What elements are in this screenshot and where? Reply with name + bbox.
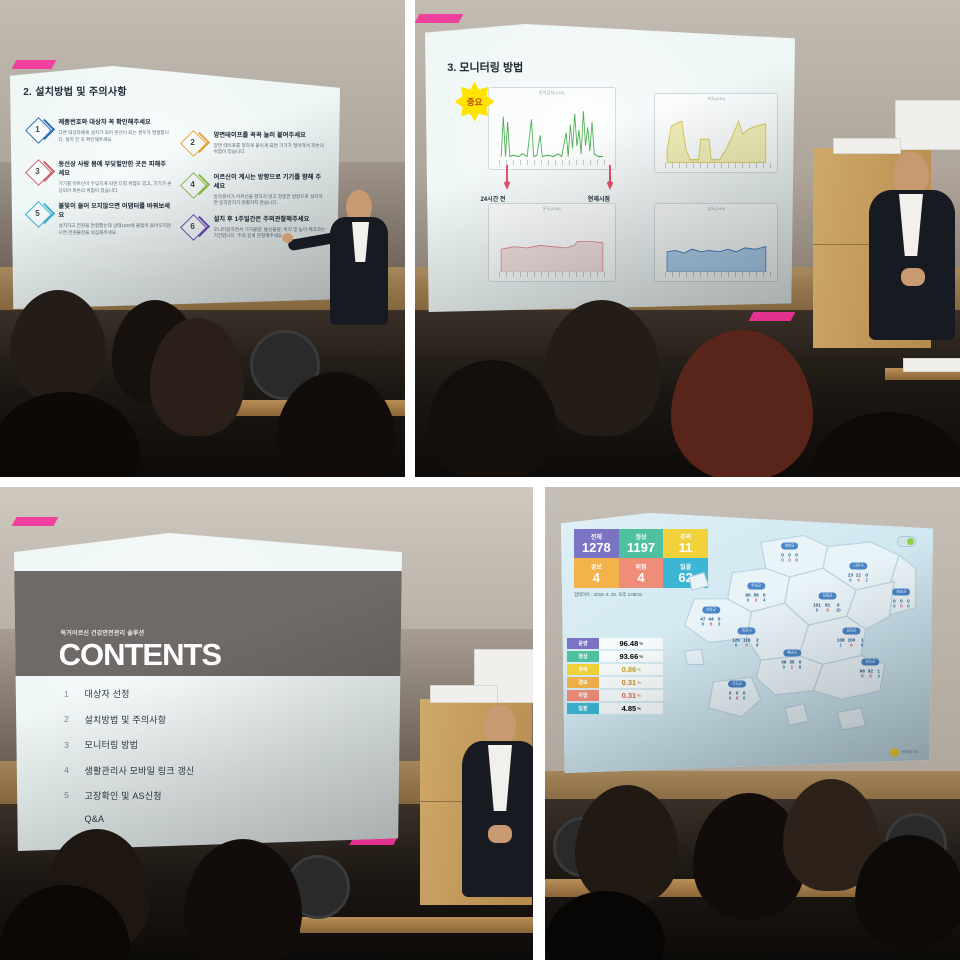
chart-axis xyxy=(665,163,772,168)
item-number: 6 xyxy=(182,216,204,238)
desk xyxy=(300,917,533,933)
contents-row-number: 5 xyxy=(61,790,73,800)
humidity-area xyxy=(665,221,770,272)
item-number: 5 xyxy=(27,203,49,225)
region-name: 강진군 xyxy=(842,628,860,635)
presenter xyxy=(855,150,960,350)
chart-caption: 습도(24h) xyxy=(655,206,777,212)
install-items-left-column: 1 제품번호와 대상자 꼭 확인해주세요 다른 대상자에게 설치가 되어 혼선이… xyxy=(27,119,172,245)
region-values: 101 91 0 0 0 10 xyxy=(813,603,842,613)
cardboard-box xyxy=(430,685,498,703)
slide-title: 2. 설치방법 및 주의사항 xyxy=(23,83,127,98)
rate-number: 4.85 xyxy=(622,704,637,713)
item-body: 기기를 어르신이 부딪히게 되면 다칠 위험도 있고, 기기가 손상되어 파손의… xyxy=(59,181,172,195)
arrow-right-label: 현재시점 xyxy=(588,194,610,203)
illuminance-chart: 조도(24h) xyxy=(654,93,778,173)
kpi-label: 정상 xyxy=(635,532,646,541)
activity-chart: 동작감지(24h) xyxy=(488,87,616,170)
install-item: 2 양면테이프를 꼭꼭 눌러 붙여주세요 양면 테이프를 약하게 붙이게 되면 … xyxy=(182,132,327,166)
contents-row: 5 고장확인 및 AS신청 xyxy=(61,789,162,802)
brand-text: 한국에너지 xyxy=(902,750,919,755)
region-values: 126 116 2 0 0 8 xyxy=(732,638,761,648)
contents-row: 2 설치방법 및 주의사항 xyxy=(61,713,167,726)
region-marker[interactable]: 완도군 96 92 1 0 0 3 xyxy=(860,649,881,678)
pink-tape-mark xyxy=(12,517,59,526)
rate-label: 운영 xyxy=(567,638,600,649)
contents-row-number: 1 xyxy=(61,689,73,699)
presenter xyxy=(452,705,533,905)
brand-logo: 한국에너지 xyxy=(890,748,919,757)
chart-caption: 온도(24h) xyxy=(489,206,615,212)
temperature-chart: 온도(24h) xyxy=(488,203,616,283)
arrow-right-icon xyxy=(606,165,614,191)
region-marker[interactable]: 목포시 126 116 2 0 0 8 xyxy=(732,619,761,648)
rate-unit: % xyxy=(637,693,641,698)
region-name: 목포시 xyxy=(738,628,756,635)
region-name: 완도군 xyxy=(862,658,880,665)
activity-spike-line xyxy=(499,106,607,159)
rate-number: 0.31 xyxy=(622,691,637,700)
kpi-value: 4 xyxy=(593,571,600,585)
kpi-tile[interactable]: 전체 1278 xyxy=(574,529,619,559)
contents-row-label: 모니터링 방법 xyxy=(85,738,139,751)
contents-title: CONTENTS xyxy=(59,640,222,669)
slide-title: 3. 모니터링 방법 xyxy=(447,59,523,75)
item-heading: 제품번호와 대상자 꼭 확인해주세요 xyxy=(59,119,172,128)
arrow-left-label: 24시간 전 xyxy=(481,194,506,203)
temperature-area xyxy=(499,221,607,272)
chart-axis xyxy=(499,160,610,165)
region-values: 47 44 0 0 0 3 xyxy=(700,616,721,626)
paper-stack xyxy=(903,358,960,372)
item-heading: 불빛이 들어 오지않으면 어댑터를 바꿔보세요 xyxy=(59,203,172,221)
chart-axis xyxy=(499,272,610,277)
cardboard-box xyxy=(895,100,960,150)
rate-row: 경보 0.31% xyxy=(567,677,664,688)
region-values: 60 56 0 0 0 4 xyxy=(746,592,767,602)
kpi-tile[interactable]: 경보 4 xyxy=(574,558,619,588)
region-marker[interactable]: 무안군 60 56 0 0 0 4 xyxy=(746,573,767,602)
region-name: 무안군 xyxy=(747,582,765,589)
presenter-hands xyxy=(901,268,925,286)
region-name: 신안군 xyxy=(702,606,720,613)
presenter-hand xyxy=(282,233,293,243)
kpi-value: 1278 xyxy=(582,541,611,555)
region-values: 96 92 1 0 0 3 xyxy=(860,668,881,678)
panel-monitoring-method: 3. 모니터링 방법 중요 동작감지(24h) 24시간 전 현재시점 조도(2… xyxy=(415,0,960,477)
region-name: 화순군 xyxy=(892,589,910,596)
brand-mark-icon xyxy=(890,748,899,757)
rate-unit: % xyxy=(637,680,641,685)
rate-row: 정상 93.66% xyxy=(567,651,664,662)
pink-tape-mark xyxy=(12,60,57,69)
item-number: 1 xyxy=(27,119,49,141)
chart-axis xyxy=(665,272,772,277)
chevron-5-icon: 5 xyxy=(27,203,53,229)
arrow-left-icon xyxy=(503,165,511,191)
rate-number: 0.31 xyxy=(622,678,637,687)
chevron-6-icon: 6 xyxy=(182,216,208,242)
region-marker[interactable]: 나주시 23 21 0 0 0 2 xyxy=(848,553,869,582)
region-marker[interactable]: 신안군 47 44 0 0 0 3 xyxy=(700,597,721,626)
item-heading: 양면테이프를 꼭꼭 눌러 붙여주세요 xyxy=(214,132,327,141)
kpi-tile[interactable]: 정상 1197 xyxy=(619,529,664,559)
chart-caption: 조도(24h) xyxy=(655,96,777,102)
item-body: 양면 테이프를 약하게 붙이게 되면 기기가 떨어져서 파손의 위험이 있습니다… xyxy=(214,143,327,157)
rate-table: 운영 96.48% 정상 93.66% 주의 0.86% xyxy=(567,638,664,716)
presenter-face xyxy=(484,705,516,745)
rate-value: 4.85% xyxy=(599,703,663,714)
rate-value: 0.31% xyxy=(599,677,663,688)
contents-row: 4 생활관리사 모바일 링크 갱신 xyxy=(61,764,195,777)
projection-screen: 2. 설치방법 및 주의사항 1 제품번호와 대상자 꼭 확인해주세요 다른 대… xyxy=(10,66,340,309)
pink-tape-mark xyxy=(749,312,796,321)
install-item: 5 불빛이 들어 오지않으면 어댑터를 바꿔보세요 설치하고 전원을 연결했는데… xyxy=(27,203,172,237)
contents-row: 1 대상자 선정 xyxy=(61,687,130,700)
contents-row-label: 설치방법 및 주의사항 xyxy=(85,713,167,726)
item-number: 2 xyxy=(182,132,204,154)
rate-row: 주의 0.86% xyxy=(567,664,664,675)
rate-label: 주의 xyxy=(567,664,600,675)
rate-unit: % xyxy=(637,706,641,711)
chevron-3-icon: 3 xyxy=(27,161,53,187)
rate-number: 0.86 xyxy=(622,665,637,674)
item-number: 4 xyxy=(182,174,204,196)
projection-screen: 3. 모니터링 방법 중요 동작감지(24h) 24시간 전 현재시점 조도(2… xyxy=(425,24,795,312)
region-marker[interactable]: 강진군 108 100 1 1 0 6 xyxy=(837,619,866,648)
rate-unit: % xyxy=(637,667,641,672)
item-number: 3 xyxy=(27,161,49,183)
item-body: 다른 대상자에게 설치가 되어 혼선이 되는 경우가 발생합니다. 설치 전 꼭… xyxy=(59,130,172,144)
kpi-label: 위험 xyxy=(635,562,646,571)
rate-row: 일괄 4.85% xyxy=(567,703,664,714)
region-values: 23 21 0 0 0 2 xyxy=(848,572,869,582)
illuminance-area xyxy=(665,111,770,162)
install-item: 1 제품번호와 대상자 꼭 확인해주세요 다른 대상자에게 설치가 되어 혼선이… xyxy=(27,119,172,153)
projection-screen: 독거어르신 건강안전관리 솔루션 CONTENTS 1 대상자 선정 2 설치방… xyxy=(14,533,402,851)
region-marker[interactable]: 화순군 0 0 0 0 0 0 xyxy=(892,580,910,609)
rate-value: 96.48% xyxy=(599,638,663,649)
contents-row-number: 4 xyxy=(61,765,73,775)
rate-value: 93.66% xyxy=(599,651,663,662)
rate-value: 0.86% xyxy=(599,664,663,675)
item-heading: 어르신이 계시는 방향으로 기기를 향해 주세요 xyxy=(214,174,327,192)
photo-collage: 2. 설치방법 및 주의사항 1 제품번호와 대상자 꼭 확인해주세요 다른 대… xyxy=(0,0,960,960)
rate-label: 일괄 xyxy=(567,703,600,714)
rate-label: 경보 xyxy=(567,677,600,688)
kpi-value: 1197 xyxy=(627,541,655,555)
contents-row-number: 3 xyxy=(61,740,73,750)
presenter-hands xyxy=(488,825,512,843)
region-values: 39 35 0 0 1 8 xyxy=(781,660,802,670)
contents-row-label: Q&A xyxy=(85,814,105,824)
kpi-tile[interactable]: 위험 4 xyxy=(619,558,664,588)
panel-install-method: 2. 설치방법 및 주의사항 1 제품번호와 대상자 꼭 확인해주세요 다른 대… xyxy=(0,0,405,477)
rate-unit: % xyxy=(639,641,643,646)
contents-row-label: 대상자 선정 xyxy=(85,687,130,700)
region-name: 나주시 xyxy=(850,562,868,569)
rate-unit: % xyxy=(639,654,643,659)
region-marker[interactable]: 장흥군 101 91 0 0 0 10 xyxy=(813,584,842,613)
region-values: 0 0 0 0 0 0 xyxy=(781,553,799,563)
region-marker[interactable]: 진도군 0 0 0 0 0 0 xyxy=(728,671,746,700)
item-heading: 동선상 사람 몸에 부딪힐만한 곳은 피해주세요 xyxy=(59,161,172,179)
region-map[interactable]: 영암군 0 0 0 0 0 0 나주시 23 21 0 xyxy=(680,529,918,747)
rate-row: 위험 0.31% xyxy=(567,690,664,701)
contents-row: 3 모니터링 방법 xyxy=(61,738,139,751)
install-item: 3 동선상 사람 몸에 부딪힐만한 곳은 피해주세요 기기를 어르신이 부딪히게… xyxy=(27,161,172,195)
region-name: 장흥군 xyxy=(819,593,837,600)
panel-dashboard-map: 전체 1278 정상 1197 주의 11 경보 4 위험 4 xyxy=(545,487,960,960)
rate-label: 정상 xyxy=(567,651,600,662)
region-values: 0 0 0 0 0 0 xyxy=(892,599,910,609)
rate-row: 운영 96.48% xyxy=(567,638,664,649)
kpi-label: 전체 xyxy=(591,532,602,541)
rate-value: 0.31% xyxy=(599,690,663,701)
projection-screen: 전체 1278 정상 1197 주의 11 경보 4 위험 4 xyxy=(561,513,933,773)
chevron-4-icon: 4 xyxy=(182,174,208,200)
chevron-2-icon: 2 xyxy=(182,132,208,158)
chevron-1-icon: 1 xyxy=(27,119,53,145)
chart-caption: 동작감지(24h) xyxy=(489,90,615,96)
contents-row-label: 생활관리사 모바일 링크 갱신 xyxy=(85,764,195,777)
pink-tape-mark xyxy=(415,14,463,23)
region-name: 해남군 xyxy=(783,650,801,657)
kpi-value: 4 xyxy=(637,571,644,585)
update-timestamp: 업데이트 : 2019. 9. 25. 오후 2:09:01 xyxy=(574,592,642,598)
region-values: 0 0 0 0 0 0 xyxy=(728,690,746,700)
rate-label: 위험 xyxy=(567,690,600,701)
map-shape xyxy=(680,529,918,747)
region-marker[interactable]: 해남군 39 35 0 0 1 8 xyxy=(781,641,802,670)
panel-contents-slide: 독거어르신 건강안전관리 솔루션 CONTENTS 1 대상자 선정 2 설치방… xyxy=(0,487,533,960)
contents-row-label: 고장확인 및 AS신청 xyxy=(85,789,162,802)
rate-number: 96.48 xyxy=(619,639,638,648)
region-name: 영암군 xyxy=(781,543,799,550)
region-name: 진도군 xyxy=(728,680,746,687)
presenter xyxy=(300,190,390,350)
contents-row: Q&A xyxy=(61,814,105,824)
region-values: 108 100 1 1 0 6 xyxy=(837,638,866,648)
item-body: 설치하고 전원을 연결했는데 상태LED에 불빛이 들어오지않으면 전원불량을 … xyxy=(59,223,172,237)
kpi-label: 경보 xyxy=(591,562,602,571)
region-marker[interactable]: 영암군 0 0 0 0 0 0 xyxy=(781,534,799,563)
humidity-chart: 습도(24h) xyxy=(654,203,778,283)
rate-number: 93.66 xyxy=(619,652,638,661)
contents-row-number: 2 xyxy=(61,714,73,724)
